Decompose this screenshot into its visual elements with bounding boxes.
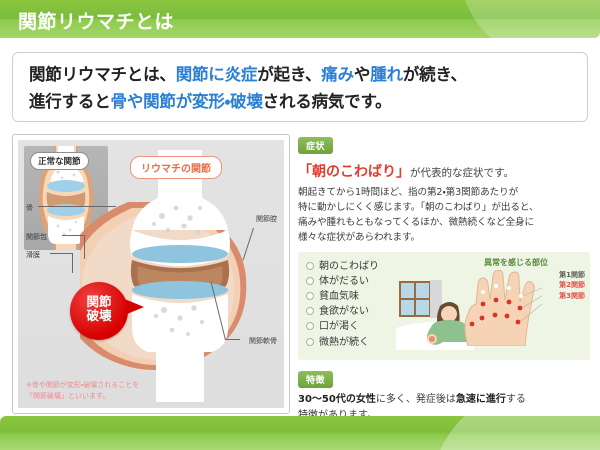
annotation-articular-cartilage: 関節軟骨	[249, 336, 277, 346]
intro-line-2: 進行すると骨や関節が変形・破壊される病気です。	[29, 89, 573, 116]
symptoms-body-line-1: 朝起きてから1時間ほど、指の第2・第3関節あたりが	[298, 185, 590, 200]
checklist-item-label: 朝のこわばり	[319, 261, 379, 272]
checkbox-circle-icon[interactable]	[306, 307, 314, 315]
diagram-footnote-line2: 「関節破壊」といいます。	[26, 391, 139, 402]
symptoms-body: 朝起きてから1時間ほど、指の第2・第3関節あたりが特に動かしにくく感じます。「朝…	[298, 185, 590, 246]
annotation-synovium-leader-h	[50, 253, 72, 254]
hand-joint-legend: 第1関節第2関節第3関節	[559, 270, 585, 302]
diagram-footnote-line1: ※骨や関節が変形・破壊されることを	[26, 380, 139, 391]
intro-box: 関節リウマチとは、関節に炎症が起き、痛みや腫れが続き、 進行すると骨や関節が変形…	[12, 52, 588, 122]
right-column: 症状 「朝のこわばり」が代表的な症状です。 朝起きてから1時間ほど、指の第2・第…	[298, 134, 590, 414]
annotation-joint-capsule: 関節包	[26, 232, 47, 242]
symptoms-checklist-box: 朝のこわばり体がだるい貧血気味食欲がない口が渇く微熱が続く 異常を感じる部位	[298, 252, 590, 360]
intro-line-1: 関節リウマチとは、関節に炎症が起き、痛みや腫れが続き、	[29, 62, 573, 89]
annotation-joint-cavity: 関節腔	[256, 214, 277, 224]
checkbox-circle-icon[interactable]	[306, 322, 314, 330]
destruction-badge: 関節 破壊	[70, 282, 128, 340]
symptoms-headline: 「朝のこわばり」が代表的な症状です。	[298, 161, 590, 181]
features-segment-2: 急速に進行	[456, 394, 506, 405]
intro-segment-5: 腫れ	[370, 65, 403, 84]
intro-segment-6: が続き、	[403, 65, 467, 84]
checkbox-circle-icon[interactable]	[306, 338, 314, 346]
destruction-badge-line1: 関節	[70, 295, 128, 309]
annotation-cartilage-leader-h	[226, 339, 240, 340]
hand-diagram-title: 異常を感じる部位	[450, 257, 582, 268]
normal-joint-label: 正常な関節	[30, 152, 89, 170]
diagram-footnote: ※骨や関節が変形・破壊されることを 「関節破壊」といいます。	[26, 380, 139, 402]
checklist-item-label: 食欲がない	[319, 306, 369, 317]
intro-segment-1: 骨や関節が変形・破壊	[111, 92, 263, 111]
checklist-item-label: 微熱が続く	[319, 337, 369, 348]
hand-joint-legend-item-2: 第2関節	[559, 280, 585, 291]
checkbox-circle-icon[interactable]	[306, 292, 314, 300]
ra-joint-svg	[80, 150, 280, 402]
intro-segment-2: される病気です。	[263, 92, 392, 111]
annotation-synovium: 滑膜	[26, 250, 40, 260]
symptoms-section-badge: 症状	[298, 137, 333, 154]
checklist-item-label: 貧血気味	[319, 291, 359, 302]
annotation-bone: 骨	[26, 203, 33, 213]
annotation-capsule-leader-h	[62, 235, 84, 236]
hand-joint-legend-item-1: 第1関節	[559, 270, 585, 281]
features-section-badge: 特徴	[298, 371, 333, 388]
checkbox-circle-icon[interactable]	[306, 262, 314, 270]
page-header: 関節リウマチとは	[0, 0, 600, 38]
features-body-line1: 30～50代の女性に多く、発症後は急速に進行する	[298, 392, 590, 408]
ra-joint-label: リウマチの関節	[130, 156, 222, 179]
joint-diagram-canvas: 正常な関節	[18, 140, 284, 408]
symptoms-headline-quoted: 「朝のこわばり」	[298, 164, 410, 180]
intro-segment-1: 関節に炎症	[176, 65, 258, 84]
checklist-item-label: 口が渇く	[319, 321, 359, 332]
annotation-synovium-leader-v	[72, 253, 73, 273]
annotation-bone-leader	[38, 206, 116, 207]
checkbox-circle-icon[interactable]	[306, 277, 314, 285]
symptoms-body-line-4: 様々な症状があらわれます。	[298, 230, 590, 245]
features-segment-3: する	[506, 394, 526, 405]
features-segment-1: に多く、発症後は	[376, 394, 456, 405]
intro-segment-3: 痛み	[321, 65, 354, 84]
intro-segment-4: や	[354, 65, 370, 84]
checklist-item-label: 体がだるい	[319, 276, 369, 287]
symptoms-headline-rest: が代表的な症状です。	[410, 167, 514, 179]
page-footer	[0, 416, 600, 450]
annotation-capsule-leader-v	[84, 235, 85, 259]
intro-segment-0: 進行すると	[29, 92, 111, 111]
hand-joint-legend-item-3: 第3関節	[559, 291, 585, 302]
hand-diagram	[454, 270, 550, 346]
symptoms-body-line-3: 痛みや腫れもともなってくるほか、微熱続くなど全身に	[298, 215, 590, 230]
page-title: 関節リウマチとは	[18, 7, 174, 34]
intro-segment-2: が起き、	[257, 65, 321, 84]
intro-segment-0: 関節リウマチとは、	[29, 65, 176, 84]
destruction-badge-line2: 破壊	[70, 309, 128, 323]
features-segment-0: 30～50代の女性	[298, 394, 376, 405]
symptoms-body-line-2: 特に動かしにくく感じます。「朝のこわばり」が出ると、	[298, 200, 590, 215]
joint-diagram-panel: 正常な関節	[12, 134, 290, 414]
